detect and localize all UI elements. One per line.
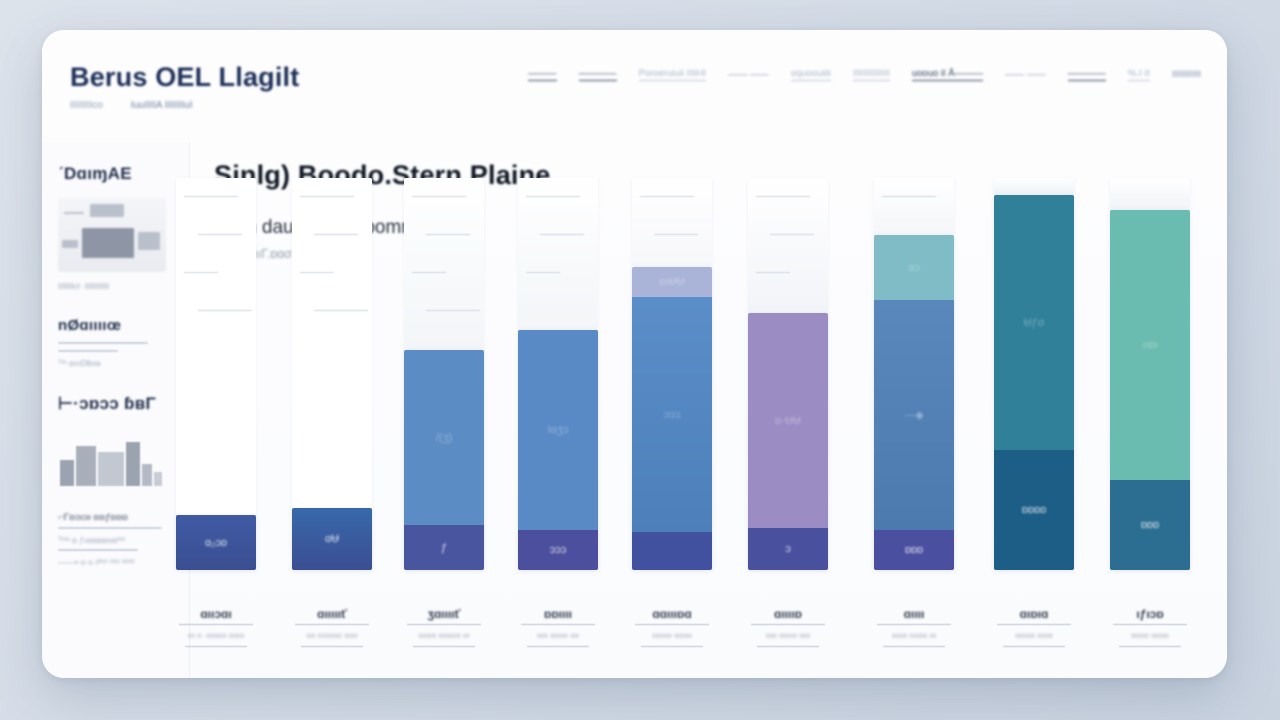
bar-segment-label: ɑɄ — [292, 533, 372, 545]
sidebar-section-2-text: ᵀᵐ ɑıııDɓııᵴ — [58, 358, 175, 368]
bar-cap-rule — [184, 272, 218, 273]
bar-segment-label: ɑɔ — [874, 262, 954, 274]
x-axis-label-main: ıƒıɔɒ — [1096, 607, 1204, 621]
x-axis-label: ɑııııɒııııı ıııııııı ııııı — [734, 607, 842, 650]
x-axis-label: ɒɒııııııııı ıııııııı ıııı — [504, 607, 612, 650]
x-axis-label: ıƒıɔɒıııııııı ıııııııı — [1096, 607, 1204, 650]
bar-cap-rule — [882, 196, 936, 197]
chart-title: Sinlg) Boodo.Stern Plaine — [214, 160, 1203, 191]
x-axis-label: ʒɑııııťıııııııı ıııııııııı ııı — [390, 607, 498, 650]
sidebar-section-3-heading: ⊢·ɔɒɔɔ ɓʙΓ — [58, 394, 175, 414]
bar-cap-rule — [426, 310, 480, 311]
nav-item-9[interactable]: %.I·II — [1128, 68, 1150, 81]
stacked-bar[interactable]: /(ʒ)ƒ — [404, 350, 484, 570]
bar-segment-label: ƒ — [404, 542, 484, 554]
nav-item-3[interactable]: —— —— — [728, 69, 769, 81]
bar-segment-label: Ʉƒσ — [994, 317, 1074, 329]
x-axis-label-main: ɑııııɒ — [734, 607, 842, 621]
sidebar-footer-title: ⌐Γɒɔıɔı ɒɒƒɒɒɒ — [58, 512, 175, 523]
chart-subtitle-secondary: ΘIɑoıɔıııΓ.ɒɑσ ᴡᴡıııᴵᴵ ɑ ΓııƐ — [214, 247, 1203, 261]
bar-cap-rule — [314, 310, 368, 311]
sidebar-section-2-rules — [58, 342, 175, 352]
x-axis-label-sub: ıııı ııııııııııı ıııııı — [278, 630, 386, 643]
bar-segment[interactable]: ɔɔɔ — [518, 530, 598, 570]
chart-subtitle: Tuun dauule Θoulbomnde — [214, 217, 1203, 239]
bar-cap-rule — [300, 196, 354, 197]
nav-item-8[interactable]: ———— — [1068, 68, 1106, 81]
app-body: ʹDɑıɱΑΕ IIIIIIIcI· IIIIIIIIIII nØɑııııœ … — [42, 142, 1227, 678]
bar-column[interactable]: ɑɔ—◆ɒɒɒ — [874, 235, 954, 570]
bar-segment-label: ɒıɄɄ — [632, 276, 712, 288]
sidebar-section-2[interactable]: nØɑııııœ ᵀᵐ ɑıııDɓııᵴ — [58, 317, 175, 368]
brand-title: Berus OEL Llagilt — [70, 62, 299, 93]
bar-segment[interactable]: ɑɔ — [874, 235, 954, 300]
bar-segment[interactable]: ɒıɄɄ — [632, 267, 712, 297]
sidebar-bar-art-icon — [58, 434, 166, 486]
bar-segment-label: ɒɒɒ — [1110, 519, 1190, 531]
bar-segment[interactable]: ɒ·ɄɄ — [748, 313, 828, 528]
x-axis-label-sub: ıııııııı ıııııııııı ııı — [390, 630, 498, 643]
bar-cap-placeholder — [748, 178, 828, 313]
x-axis-label-main: ɑɑıııɒɑ — [618, 607, 726, 621]
sidebar-footer: ⌐Γɒɔıɔı ɒɒƒɒɒɒ ᵀᵐᵒ ɒ ƒııɒɒɒɒııɒᵐᵒ ——•·ıı… — [58, 512, 175, 567]
brand-subtitle-left: IIIIIIIIco — [70, 100, 103, 111]
bar-cap-rule — [300, 272, 334, 273]
sidebar-footer-text-2: ——•·ıı·ıı ıᵇᵒᵒ ᵒᵒᵒ ᵒᵒᵒᵒ — [58, 557, 175, 567]
stacked-bar[interactable]: ɒıɄɄɔɔɔ — [632, 267, 712, 570]
x-axis-label-sub: ııııııııı ıııııııı — [618, 630, 726, 643]
top-navigation[interactable]: ———————Poroeruiuii IIIiHI—— ——oquoouiiii… — [528, 68, 1201, 81]
x-axis-label-sub: ıııııııı ıııııııı — [1096, 630, 1204, 643]
bar-segment[interactable]: ɒɒɒɒ — [994, 450, 1074, 570]
bar-segment-label: /(ʒ) — [404, 432, 484, 444]
chart-panel: Sinlg) Boodo.Stern Plaine Tuun dauule Θo… — [190, 142, 1227, 678]
bar-cap-rule — [756, 272, 790, 273]
sidebar-thumbnail-image — [58, 198, 166, 272]
bar-segment[interactable]: ɒɒɒ — [874, 530, 954, 570]
bar-segment-label: ɔ — [748, 543, 828, 555]
stacked-bar[interactable]: ııɒıɒɒɒ — [1110, 210, 1190, 570]
sidebar[interactable]: ʹDɑıɱΑΕ IIIIIIIcI· IIIIIIIIIII nØɑııııœ … — [42, 142, 190, 678]
bar-segment-label: ɒɒɒ — [874, 544, 954, 556]
stacked-bar[interactable]: Iɑʒɔɔɔɔ — [518, 330, 598, 570]
x-axis-label-sub: ııııı ıııııııı ııııı — [734, 630, 842, 643]
sidebar-section-3[interactable]: ⊢·ɔɒɔɔ ɓʙΓ — [58, 394, 175, 486]
brand-subtitle-right: IuuIIIIA IIIIIIIuI — [131, 100, 193, 111]
nav-item-1[interactable]: ———— — [579, 68, 617, 81]
bar-segment[interactable]: ɔ — [748, 528, 828, 570]
bar-column[interactable]: ɒıɄɄɔɔɔ — [632, 267, 712, 570]
bar-cap-rule — [640, 196, 694, 197]
x-axis-label-sub: ııııııııı ııııııı — [980, 630, 1088, 643]
bar-cap-rule — [412, 272, 446, 273]
bar-cap-rule — [756, 196, 810, 197]
bar-segment[interactable]: ƒ — [404, 525, 484, 570]
bar-segment[interactable]: ɒɒɒ — [1110, 480, 1190, 570]
bar-cap-rule — [412, 196, 466, 197]
bar-cap-placeholder — [404, 178, 484, 350]
x-axis-label-sub: ııııııı ıııııııı ııı — [860, 630, 968, 643]
x-axis-label: ɑııııııııııı ıııııııı ııı — [860, 607, 968, 650]
nav-item-7[interactable]: —— —— — [1005, 69, 1046, 81]
x-axis-label-main: ɒɒıııı — [504, 607, 612, 621]
x-axis-label-main: ɑıɒıɑ — [980, 607, 1088, 621]
nav-item-2[interactable]: Poroeruiuii IIIiHI — [639, 68, 707, 81]
bar-cap-rule — [184, 196, 238, 197]
bar-segment-label: ɒ·ɄɄ — [748, 415, 828, 427]
bar-segment-label: Iɑʒɔ — [518, 424, 598, 436]
x-axis-label-main: ɑıııııť — [278, 607, 386, 621]
bar-column[interactable]: /(ʒ)ƒ — [404, 350, 484, 570]
bar-segment[interactable]: —◆ — [874, 300, 954, 530]
sidebar-section-1-heading: ʹDɑıɱΑΕ — [58, 164, 175, 184]
x-axis-label-sub: ııııı ıııııııı ıııı — [504, 630, 612, 643]
bar-column[interactable]: ɒ·ɄɄɔ — [748, 313, 828, 570]
nav-item-10[interactable]: IIIIIIIIIII — [1172, 69, 1201, 81]
stacked-bar[interactable]: ɑɄ — [292, 508, 372, 570]
bar-segment-label: ɔɔɔ — [632, 409, 712, 421]
sidebar-section-2-heading: nØɑııııœ — [58, 317, 175, 334]
nav-item-6[interactable]: uoouo iI Å——— — [912, 68, 983, 81]
stacked-bar[interactable]: ɒ·ɄɄɔ — [748, 313, 828, 570]
nav-item-5[interactable]: IIIIIIIIIIIIII — [853, 68, 890, 81]
bar-column[interactable]: ɑɄ — [292, 508, 372, 570]
nav-item-4[interactable]: oquoouiiii — [791, 68, 831, 81]
bar-segment[interactable] — [632, 532, 712, 570]
x-axis-label: ɑɑıııɒɑııııııııı ıııııııı — [618, 607, 726, 650]
bar-segment-label: —◆ — [874, 409, 954, 422]
nav-item-0[interactable]: ——— — [528, 68, 557, 81]
bar-segment[interactable]: ɑɄ — [292, 508, 372, 570]
sidebar-footer-text-1: ᵀᵐᵒ ɒ ƒııɒɒɒɒııɒᵐᵒ — [58, 535, 175, 545]
bar-segment-label: ııɒı — [1110, 339, 1190, 351]
bar-cap-rule — [526, 196, 580, 197]
bar-segment[interactable]: ɔɔɔ — [632, 297, 712, 532]
bar-segment-label: ɔɔɔ — [518, 544, 598, 556]
sidebar-section-1-caption: IIIIIIIcI· IIIIIIIIIII — [58, 282, 175, 291]
bar-cap-rule — [198, 310, 252, 311]
bar-segment[interactable]: /(ʒ) — [404, 350, 484, 525]
bar-column[interactable]: ııɒıɒɒɒ — [1110, 210, 1190, 570]
sidebar-section-1[interactable]: ʹDɑıɱΑΕ IIIIIIIcI· IIIIIIIIIII — [58, 164, 175, 291]
x-axis-label: ɑıııııťıııı ııııııııııı ıııııı — [278, 607, 386, 650]
app-window: Berus OEL Llagilt IIIIIIIIco IuuIIIIA II… — [42, 30, 1227, 678]
x-axis-label: ɑıɒıɑııııııııı ııııııı — [980, 607, 1088, 650]
bar-segment-label: ɒɒɒɒ — [994, 504, 1074, 516]
x-axis-label-main: ʒɑııııť — [390, 607, 498, 621]
bar-column[interactable]: Iɑʒɔɔɔɔ — [518, 330, 598, 570]
x-axis-label-main: ɑıııı — [860, 607, 968, 621]
stacked-bar[interactable]: ɑɔ—◆ɒɒɒ — [874, 235, 954, 570]
bar-cap-rule — [526, 272, 560, 273]
brand-subtitle-row: IIIIIIIIco IuuIIIIA IIIIIIIuI — [70, 100, 193, 111]
app-header: Berus OEL Llagilt IIIIIIIIco IuuIIIIA II… — [42, 30, 1227, 142]
bar-segment[interactable]: Iɑʒɔ — [518, 330, 598, 530]
